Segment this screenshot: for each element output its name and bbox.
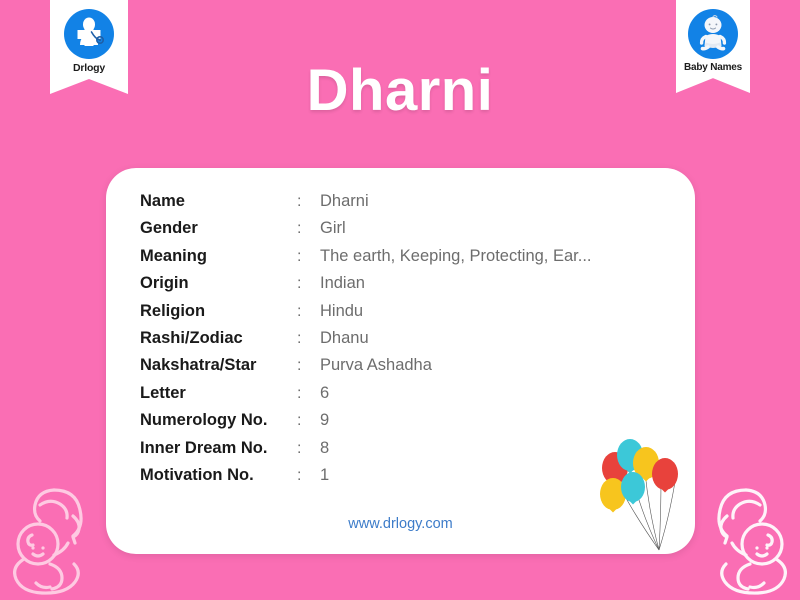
name-info-card-page: { "page": { "background_color": "#fa6eb4… — [0, 0, 800, 600]
row-value: Dharni — [320, 192, 369, 211]
website-url-link[interactable]: www.drlogy.com — [106, 516, 695, 532]
row-label: Motivation No. — [140, 466, 297, 485]
page-title: Dharni — [0, 62, 800, 120]
baby-names-logo-circle — [688, 9, 738, 59]
table-row: Gender : Girl — [140, 219, 610, 246]
row-value: 9 — [320, 411, 329, 430]
table-row: Letter : 6 — [140, 384, 610, 411]
table-row: Religion : Hindu — [140, 302, 610, 329]
row-separator: : — [297, 303, 320, 321]
table-row: Meaning : The earth, Keeping, Protecting… — [140, 247, 610, 274]
row-separator: : — [297, 385, 320, 403]
row-value: Purva Ashadha — [320, 356, 432, 375]
row-label: Nakshatra/Star — [140, 356, 297, 375]
row-label: Inner Dream No. — [140, 439, 297, 458]
details-table: Name : Dharni Gender : Girl Meaning : Th… — [140, 192, 610, 493]
table-row: Nakshatra/Star : Purva Ashadha — [140, 356, 610, 383]
row-value: Dhanu — [320, 329, 369, 348]
row-separator: : — [297, 412, 320, 430]
name-details-card: Name : Dharni Gender : Girl Meaning : Th… — [106, 168, 695, 554]
table-row: Motivation No. : 1 — [140, 466, 610, 493]
row-label: Letter — [140, 384, 297, 403]
row-label: Name — [140, 192, 297, 211]
table-row: Numerology No. : 9 — [140, 411, 610, 438]
table-row: Origin : Indian — [140, 274, 610, 301]
row-label: Origin — [140, 274, 297, 293]
row-value: Indian — [320, 274, 365, 293]
row-label: Numerology No. — [140, 411, 297, 430]
row-value: Girl — [320, 219, 346, 238]
row-separator: : — [297, 248, 320, 266]
row-value: The earth, Keeping, Protecting, Ear... — [320, 247, 592, 266]
row-separator: : — [297, 330, 320, 348]
row-value: 8 — [320, 439, 329, 458]
drlogy-logo-circle — [64, 9, 114, 59]
row-value: 1 — [320, 466, 329, 485]
doctor-cross-icon — [64, 9, 114, 59]
baby-icon — [688, 9, 738, 59]
row-label: Meaning — [140, 247, 297, 266]
row-separator: : — [297, 220, 320, 238]
row-separator: : — [297, 467, 320, 485]
table-row: Inner Dream No. : 8 — [140, 439, 610, 466]
table-row: Rashi/Zodiac : Dhanu — [140, 329, 610, 356]
mother-baby-outline-icon — [2, 482, 106, 600]
row-separator: : — [297, 193, 320, 211]
row-label: Gender — [140, 219, 297, 238]
row-value: 6 — [320, 384, 329, 403]
row-separator: : — [297, 440, 320, 458]
row-label: Religion — [140, 302, 297, 321]
row-value: Hindu — [320, 302, 363, 321]
mother-baby-outline-icon — [694, 482, 798, 600]
row-separator: : — [297, 357, 320, 375]
row-separator: : — [297, 275, 320, 293]
table-row: Name : Dharni — [140, 192, 610, 219]
row-label: Rashi/Zodiac — [140, 329, 297, 348]
